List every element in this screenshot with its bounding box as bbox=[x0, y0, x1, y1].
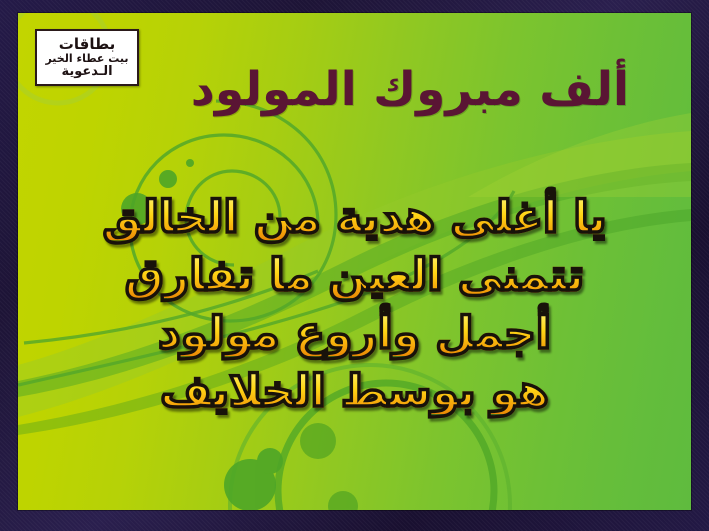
card-headline: ألف مبروك المولود bbox=[191, 65, 629, 114]
logo-line-tertiary: الـدعوية bbox=[61, 65, 112, 78]
logo-line-secondary: بيت عطاء الخير bbox=[45, 53, 128, 64]
card-frame: بطاقات بيت عطاء الخير الـدعوية ألف مبروك… bbox=[0, 0, 709, 531]
poem-line: تتمنى العين ما تفارق bbox=[125, 254, 585, 298]
poem-line: يا أغلى هدية من الخالق bbox=[103, 196, 607, 240]
publisher-logo: بطاقات بيت عطاء الخير الـدعوية bbox=[35, 29, 139, 86]
logo-line-primary: بطاقات bbox=[59, 37, 115, 52]
card-canvas: بطاقات بيت عطاء الخير الـدعوية ألف مبروك… bbox=[18, 13, 691, 510]
poem-line: هو بوسط الخلايف bbox=[160, 370, 549, 414]
poem-block: يا أغلى هدية من الخالق تتمنى العين ما تف… bbox=[18, 196, 691, 414]
poem-line: أجمل وأروع مولود bbox=[158, 312, 551, 356]
